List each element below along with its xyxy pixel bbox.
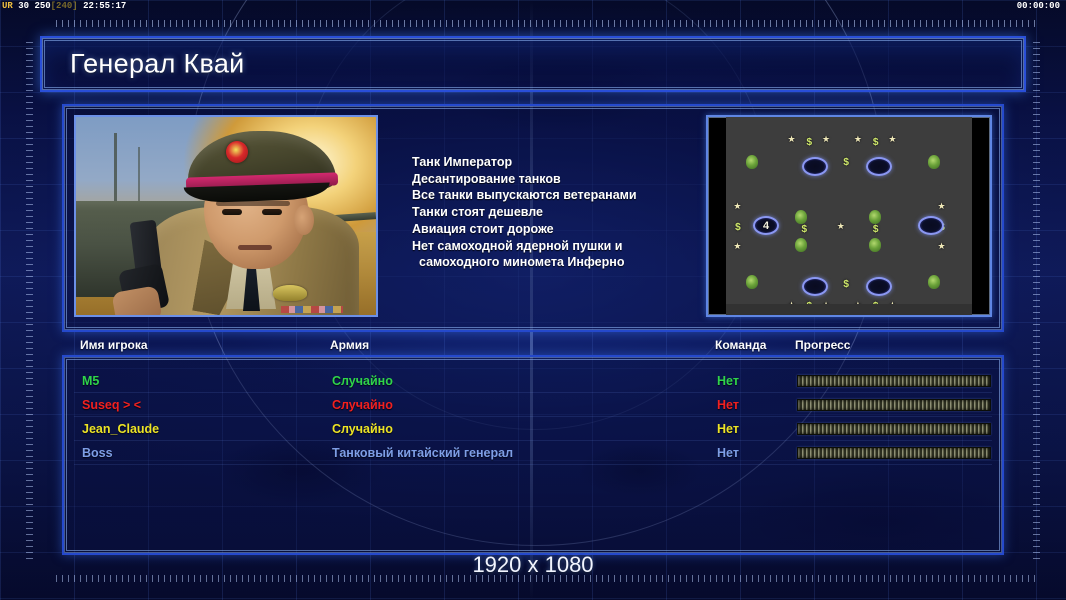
player-table-header: Имя игрока Армия Команда Прогресс [62, 338, 1004, 355]
map-start-position[interactable] [802, 157, 828, 176]
table-row[interactable]: Jean_ClaudeСлучайноНет [64, 417, 1002, 441]
row-divider [74, 464, 992, 465]
map-marker-star: ★ [788, 301, 796, 309]
game-lobby-screen: UR 30 250[240] 22:55:17 00:00:00 Генерал… [0, 0, 1066, 600]
player-army[interactable]: Случайно [332, 393, 393, 417]
portrait-pole-b [138, 147, 140, 205]
column-header-team: Команда [715, 338, 766, 352]
map-marker-tree [746, 155, 758, 169]
map-start-position[interactable] [866, 277, 892, 296]
title-panel: Генерал Квай [40, 36, 1026, 92]
general-abilities-list: Танк ИмператорДесантирование танковВсе т… [412, 154, 752, 271]
status-bar: UR 30 250[240] 22:55:17 00:00:00 [0, 0, 1066, 13]
player-list-panel: M5СлучайноНетSuseq > <СлучайноНетJean_Cl… [62, 355, 1004, 555]
player-progress-bar [797, 423, 991, 435]
map-marker-supply: $ [805, 137, 814, 148]
map-marker-star: ★ [788, 135, 796, 143]
map-marker-supply: $ [805, 301, 814, 312]
map-marker-star: ★ [822, 301, 830, 309]
ability-line: Авиация стоит дороже [412, 221, 752, 238]
player-team[interactable]: Нет [717, 441, 739, 465]
ability-line: Все танки выпускаются ветеранами [412, 187, 752, 204]
map-marker-supply: $ [871, 224, 880, 235]
player-team[interactable]: Нет [717, 417, 739, 441]
session-time: 22:55:17 [83, 1, 126, 11]
fps-limit: 250 [34, 1, 50, 11]
map-preview-frame[interactable]: ★★★★★★★★★★★★★$$$$$$$$$$4 [706, 115, 992, 317]
column-header-army: Армия [330, 338, 369, 352]
map-preview[interactable]: ★★★★★★★★★★★★★$$$$$$$$$$4 [726, 117, 972, 315]
table-row[interactable]: M5СлучайноНет [64, 369, 1002, 393]
portrait-wing-insignia [273, 285, 307, 301]
fps-bracket: [240] [51, 1, 78, 11]
map-marker-supply: $ [800, 224, 809, 235]
map-start-position[interactable] [802, 277, 828, 296]
fps-readout: UR 30 250[240] 22:55:17 [2, 0, 126, 13]
player-team[interactable]: Нет [717, 393, 739, 417]
player-progress-bar [797, 447, 991, 459]
map-marker-tree [746, 275, 758, 289]
map-marker-star: ★ [733, 202, 741, 210]
portrait-pole-a [114, 133, 117, 211]
map-start-position[interactable]: 4 [753, 216, 779, 235]
player-team[interactable]: Нет [717, 369, 739, 393]
table-row[interactable]: BossТанковый китайский генералНет [64, 441, 1002, 465]
player-progress-bar [797, 375, 991, 387]
clock-readout: 00:00:00 [1017, 0, 1060, 13]
column-header-name: Имя игрока [80, 338, 148, 352]
general-portrait [74, 115, 378, 317]
map-marker-star: ★ [938, 242, 946, 250]
portrait-mouth [238, 245, 272, 250]
map-marker-tree [928, 275, 940, 289]
map-marker-tree [795, 238, 807, 252]
player-progress-bar [797, 399, 991, 411]
player-army[interactable]: Случайно [332, 417, 393, 441]
map-start-position[interactable] [866, 157, 892, 176]
map-marker-tree [928, 155, 940, 169]
map-marker-tree [795, 210, 807, 224]
map-marker-star: ★ [938, 202, 946, 210]
map-marker-supply: $ [871, 301, 880, 312]
map-marker-supply: $ [733, 222, 742, 233]
map-start-position[interactable] [918, 216, 944, 235]
portrait-eye-right [262, 209, 282, 215]
player-army[interactable]: Случайно [332, 369, 393, 393]
resolution-label: 1920 x 1080 [0, 552, 1066, 578]
player-name: Suseq > < [82, 393, 141, 417]
map-marker-tree [869, 210, 881, 224]
ruler-top [56, 20, 1038, 27]
map-marker-star: ★ [822, 135, 830, 143]
portrait-ear [294, 205, 314, 235]
portrait-cap-badge [226, 141, 248, 163]
portrait-ribbon-bar [281, 306, 343, 313]
map-marker-supply: $ [871, 137, 880, 148]
column-header-progress: Прогресс [795, 338, 850, 352]
ruler-right [1033, 42, 1040, 560]
fps-prefix: UR [2, 1, 13, 11]
map-marker-star: ★ [854, 135, 862, 143]
map-marker-star: ★ [837, 222, 845, 230]
map-marker-star: ★ [733, 242, 741, 250]
portrait-eye-left [222, 209, 242, 215]
general-info-panel: Танк ИмператорДесантирование танковВсе т… [62, 104, 1004, 332]
player-army[interactable]: Танковый китайский генерал [332, 441, 513, 465]
page-title: Генерал Квай [70, 49, 245, 80]
ability-line: самоходного миномета Инферно [412, 254, 752, 271]
player-name: M5 [82, 369, 99, 393]
fps-value: 30 [18, 1, 29, 11]
map-marker-tree [869, 238, 881, 252]
map-marker-supply: $ [842, 279, 851, 290]
ability-line: Нет самоходной ядерной пушки и [412, 238, 752, 255]
map-start-position-label: 4 [755, 218, 777, 233]
ruler-left [26, 42, 33, 560]
map-marker-star: ★ [888, 135, 896, 143]
ability-line: Танки стоят дешевле [412, 204, 752, 221]
map-marker-supply: $ [842, 157, 851, 168]
ability-line: Десантирование танков [412, 171, 752, 188]
table-row[interactable]: Suseq > <СлучайноНет [64, 393, 1002, 417]
map-marker-star: ★ [854, 301, 862, 309]
map-marker-star: ★ [888, 301, 896, 309]
player-name: Boss [82, 441, 113, 465]
ability-line: Танк Император [412, 154, 752, 171]
player-name: Jean_Claude [82, 417, 159, 441]
